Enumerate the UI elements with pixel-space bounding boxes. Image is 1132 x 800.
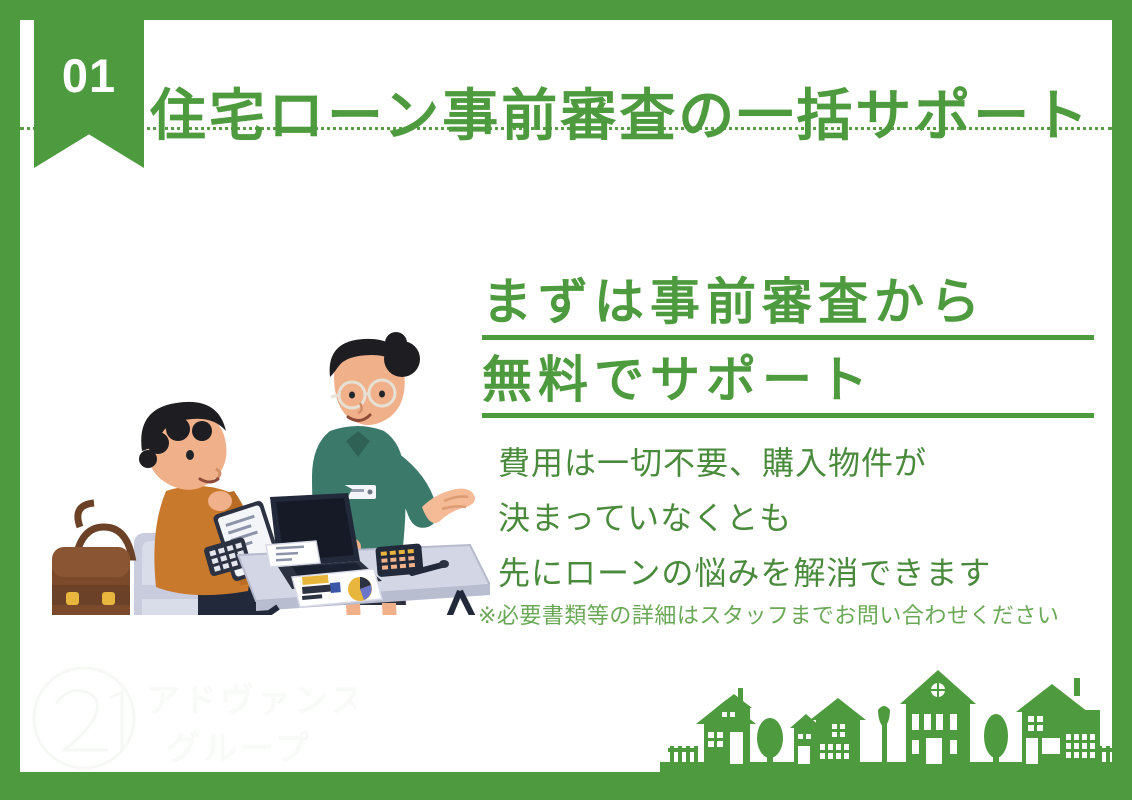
footnote-text: ※必要書類等の詳細はスタッフまでお問い合わせください	[478, 598, 1059, 630]
headline-block: まずは事前審査から 無料でサポート	[482, 272, 1094, 418]
body-copy-block: 費用は一切不要、購入物件が 決まっていなくとも 先にローンの悩みを解消できます	[498, 436, 1098, 601]
slide-canvas: 01 住宅ローン事前審査の一括サポート	[20, 20, 1112, 772]
headline-line-1: まずは事前審査から	[482, 272, 1094, 340]
page-title: 住宅ローン事前審査の一括サポート	[150, 84, 1091, 148]
body-line-3: 先にローンの悩みを解消できます	[498, 546, 1098, 601]
company-watermark: アドヴァンス グループ	[26, 660, 356, 772]
headline-line-2: 無料でサポート	[482, 350, 1094, 418]
body-line-2: 決まっていなくとも	[498, 491, 1098, 546]
watermark-line-1: アドヴァンス	[146, 681, 356, 720]
body-line-1: 費用は一切不要、購入物件が	[498, 436, 1098, 491]
watermark-line-2: グループ	[166, 730, 312, 768]
step-number-ribbon: 01	[34, 20, 144, 168]
slide-frame: 01 住宅ローン事前審査の一括サポート	[0, 0, 1132, 800]
houses-skyline	[660, 662, 1112, 772]
consultation-illustration	[30, 255, 490, 615]
step-number-label: 01	[34, 52, 144, 99]
